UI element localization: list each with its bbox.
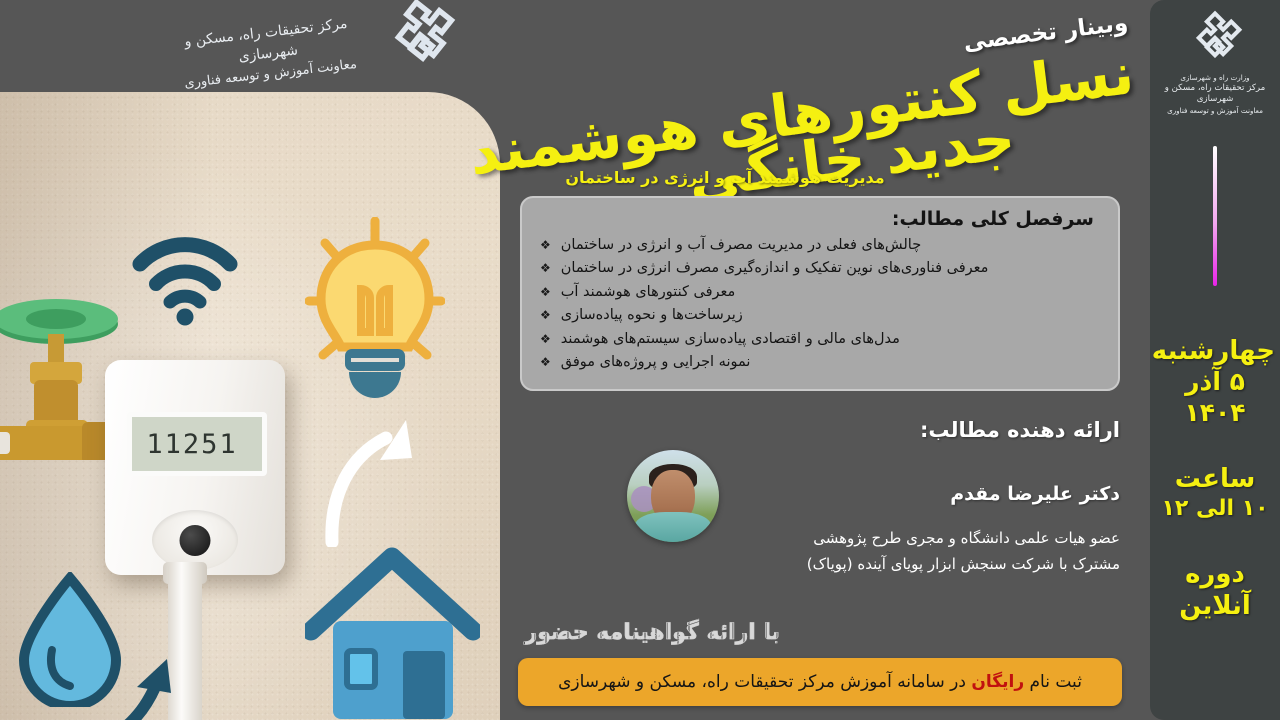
arrow-icon [320,402,430,547]
house-icon [305,547,480,720]
topics-list: ❖ چالش‌های فعلی در مدیریت مصرف آب و انرژ… [540,234,1094,375]
event-time-value: ۱۰ الی ۱۲ [1155,496,1275,523]
bullet-icon: ❖ [540,259,551,278]
bullet-icon: ❖ [540,283,551,302]
bullet-icon: ❖ [540,306,551,325]
event-time-label: ساعت [1155,464,1275,496]
list-item: ❖ زیرساخت‌ها و نحوه پیاده‌سازی [540,304,1094,327]
event-mode-line2: آنلاین [1155,591,1275,623]
certificate-note: با ارائه گواهینامه حضور [525,620,780,645]
event-date-day-month: ۵ آذر [1155,367,1275,398]
presenter-name: دکتر علیرضا مقدم [950,483,1120,505]
list-item-label: معرفی فناوری‌های نوین تفکیک و اندازه‌گیر… [561,257,989,280]
presenter-affiliation-line2: مشترک با شرکت سنجش ابزار پویای آینده (پو… [520,551,1120,577]
sidebar-divider [1213,146,1217,286]
event-date-year: ۱۴۰۴ [1155,398,1275,429]
event-mode-line1: دوره [1155,559,1275,591]
wifi-icon [130,222,240,327]
sidebar-logo-line2: مرکز تحقیقات راه، مسکن و شهرسازی [1159,83,1271,106]
knot-emblem-icon [1186,10,1244,68]
register-prefix: ثبت نام [1024,672,1082,692]
list-item-label: معرفی کنتورهای هوشمند آب [561,281,736,304]
meter-lcd-screen: 11251 [127,412,267,476]
meter-sensor-dot [180,525,211,556]
sidebar-logo-line1: وزارت راه و شهرسازی [1159,73,1271,83]
bullet-icon: ❖ [540,353,551,372]
list-item-label: نمونه اجرایی و پروژه‌های موفق [561,351,751,374]
smart-meter-body: 11251 [105,360,285,575]
meter-reading: 11251 [146,429,247,460]
register-free-badge: رایگان [971,672,1024,692]
bullet-icon: ❖ [540,330,551,349]
list-item-label: چالش‌های فعلی در مدیریت مصرف آب و انرژی … [561,234,921,257]
topics-box: سرفصل کلی مطالب: ❖ چالش‌های فعلی در مدیر… [520,196,1120,391]
bullet-icon: ❖ [540,236,551,255]
header-organization-logo: مرکز تحقیقات راه، مسکن و شهرسازی معاونت … [156,0,463,107]
presenter-affiliation: عضو هیات علمی دانشگاه و مجری طرح پژوهشی … [520,525,1120,578]
presenter-heading: ارائه دهنده مطالب: [920,418,1120,442]
list-item-label: زیرساخت‌ها و نحوه پیاده‌سازی [561,304,743,327]
list-item-label: مدل‌های مالی و اقتصادی پیاده‌سازی سیستم‌… [561,328,900,351]
poster-title: نسل کنتورهای هوشمند جدید خانگی [554,46,1143,221]
knot-emblem-icon [377,0,463,80]
topics-heading: سرفصل کلی مطالب: [540,208,1094,230]
sidebar-logo-line3: معاونت آموزش و توسعه فناوری [1159,106,1271,116]
event-mode: دوره آنلاین [1155,559,1275,622]
illustration-panel: 11251 LMS.bhrc.ac.ir [0,92,500,720]
list-item: ❖ معرفی کنتورهای هوشمند آب [540,281,1094,304]
lightbulb-icon [305,217,445,422]
list-item: ❖ مدل‌های مالی و اقتصادی پیاده‌سازی سیست… [540,328,1094,351]
list-item: ❖ معرفی فناوری‌های نوین تفکیک و اندازه‌گ… [540,257,1094,280]
event-time: ساعت ۱۰ الی ۱۲ [1155,464,1275,523]
register-suffix: در سامانه آموزش مرکز تحقیقات راه، مسکن و… [558,672,971,692]
poster-canvas: 11251 LMS.bhrc.ac.ir [0,0,1280,720]
sidebar-organization-logo: وزارت راه و شهرسازی مرکز تحقیقات راه، مس… [1159,10,1271,116]
poster-subtitle: مدیریت هوشمند آب و انرژی در ساختمان [515,168,935,187]
sidebar-logo-text: وزارت راه و شهرسازی مرکز تحقیقات راه، مس… [1159,73,1271,116]
list-item: ❖ نمونه اجرایی و پروژه‌های موفق [540,351,1094,374]
event-date: چهارشنبه ۵ آذر ۱۴۰۴ [1155,336,1275,429]
register-button[interactable]: ثبت نام رایگان در سامانه آموزش مرکز تحقی… [518,658,1122,706]
presenter-affiliation-line1: عضو هیات علمی دانشگاه و مجری طرح پژوهشی [520,525,1120,551]
list-item: ❖ چالش‌های فعلی در مدیریت مصرف آب و انرژ… [540,234,1094,257]
header-logo-text: مرکز تحقیقات راه، مسکن و شهرسازی معاونت … [157,11,379,97]
event-date-weekday: چهارشنبه [1155,336,1275,368]
register-button-label: ثبت نام رایگان در سامانه آموزش مرکز تحقی… [558,672,1082,692]
right-sidebar: وزارت راه و شهرسازی مرکز تحقیقات راه، مس… [1150,0,1280,720]
arrow-icon [55,647,185,720]
